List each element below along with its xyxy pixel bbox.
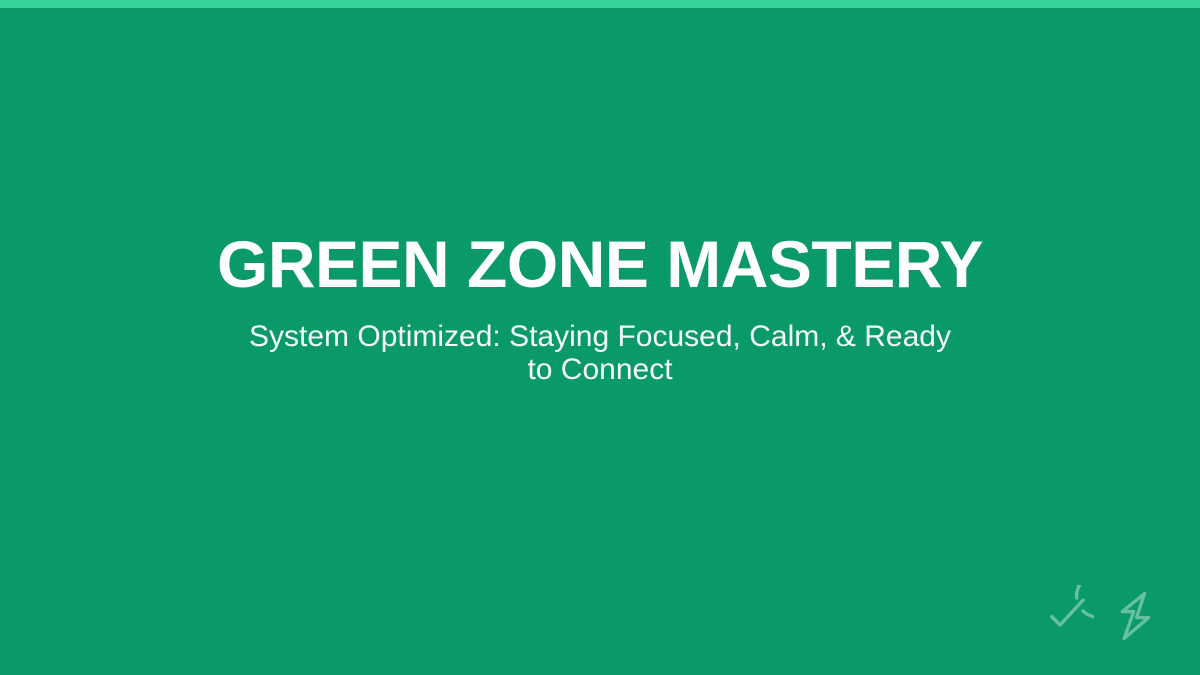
slide-content: GREEN ZONE MASTERY System Optimized: Sta…	[0, 0, 1200, 675]
decorative-icon-cluster	[1032, 585, 1166, 647]
lightning-bolt-icon	[1104, 585, 1166, 647]
page-title: GREEN ZONE MASTERY	[217, 230, 983, 299]
slide-subtitle: System Optimized: Staying Focused, Calm,…	[235, 320, 965, 387]
check-circle-icon	[1032, 585, 1094, 647]
title-slide: GREEN ZONE MASTERY System Optimized: Sta…	[0, 0, 1200, 675]
